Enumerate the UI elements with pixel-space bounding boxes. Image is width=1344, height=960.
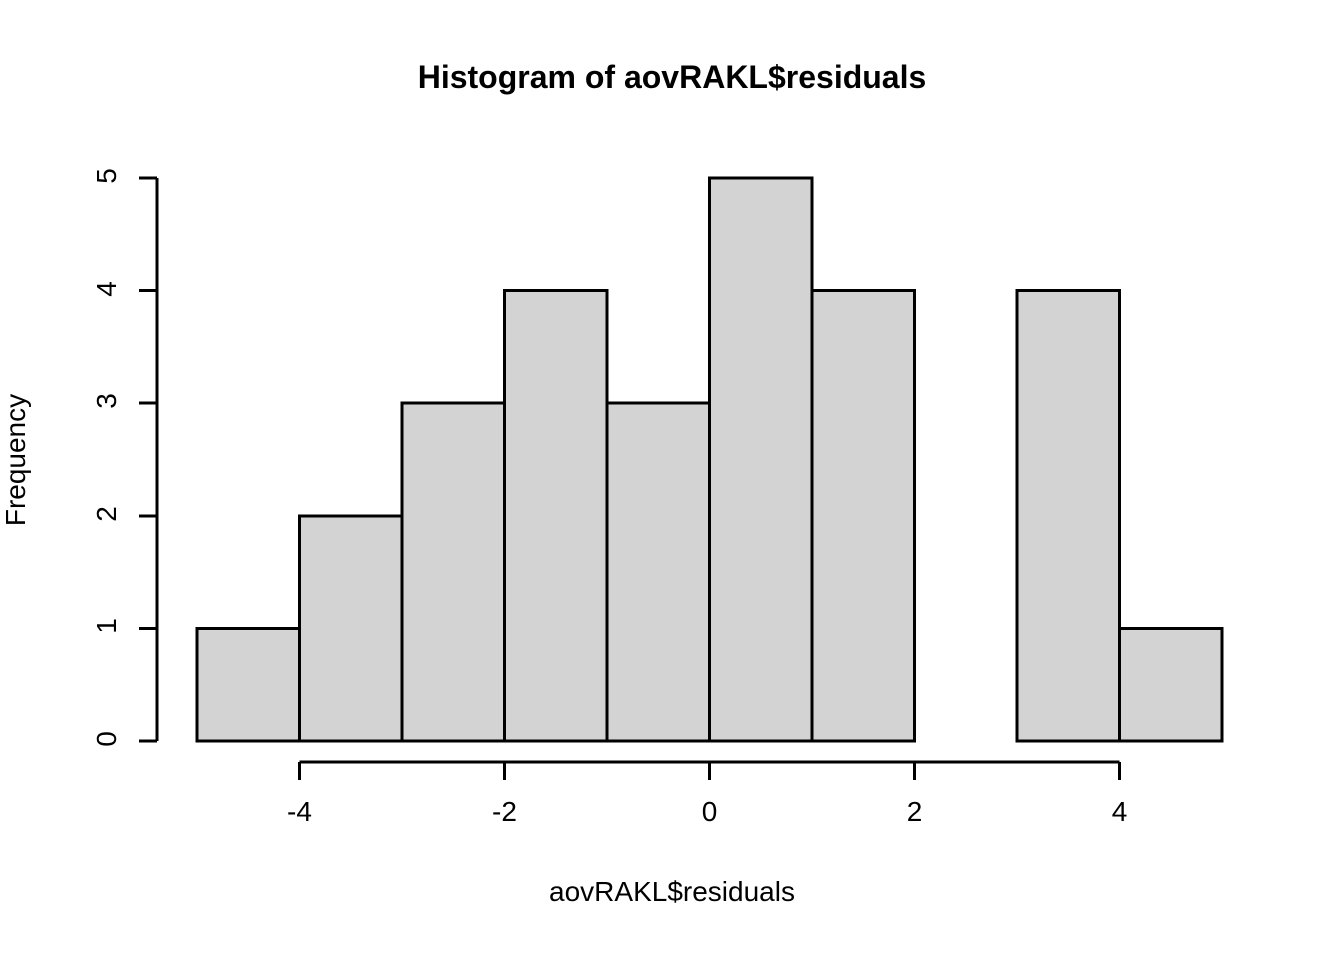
x-tick-label: 2 xyxy=(875,796,955,828)
y-tick-label: 2 xyxy=(91,494,123,534)
histogram-bar xyxy=(402,403,505,741)
y-axis xyxy=(139,178,157,741)
y-tick-label: 4 xyxy=(91,269,123,309)
y-tick-label: 0 xyxy=(91,719,123,759)
x-tick-label: -4 xyxy=(260,796,340,828)
histogram-bar xyxy=(505,291,608,741)
x-axis xyxy=(300,762,1120,780)
x-axis-label: aovRAKL$residuals xyxy=(0,874,1344,910)
histogram-bar xyxy=(607,403,710,741)
x-tick-label: 4 xyxy=(1080,796,1160,828)
histogram-bar xyxy=(812,291,915,741)
histogram-bar xyxy=(1017,291,1120,741)
histogram-plot: Histogram of aovRAKL$residuals 012345 -4… xyxy=(0,0,1344,960)
histogram-bar xyxy=(300,516,403,741)
histogram-bar xyxy=(1120,628,1223,741)
x-tick-label: 0 xyxy=(670,796,750,828)
histogram-bar xyxy=(710,178,813,741)
histogram-bar xyxy=(197,628,300,741)
x-tick-label: -2 xyxy=(465,796,545,828)
y-tick-label: 3 xyxy=(91,381,123,421)
bars-group xyxy=(197,178,1222,741)
y-tick-label: 5 xyxy=(91,156,123,196)
y-axis-label: Frequency xyxy=(0,370,32,550)
y-tick-label: 1 xyxy=(91,606,123,646)
